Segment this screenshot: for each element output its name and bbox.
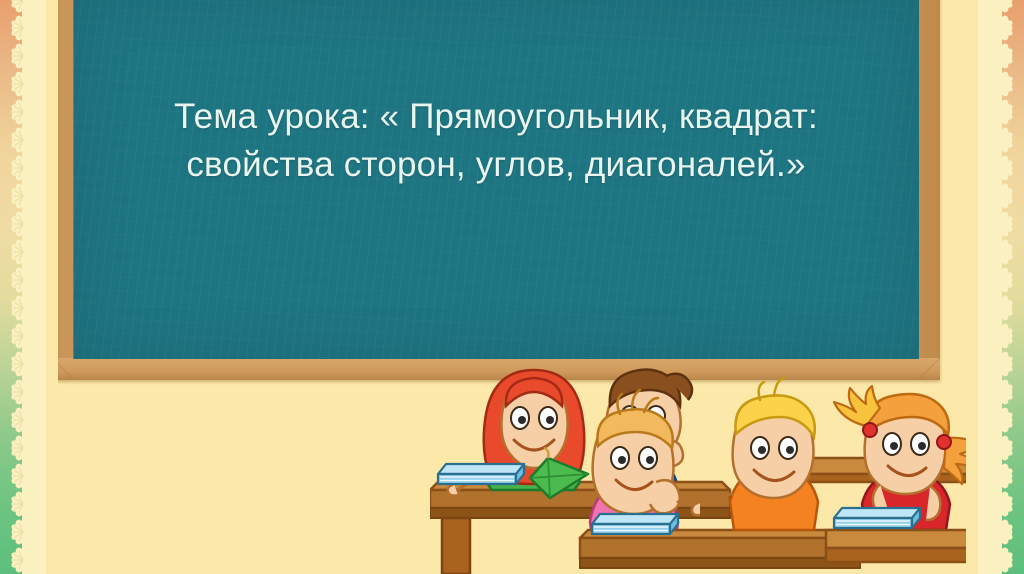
book — [592, 514, 678, 534]
lace-pattern-right — [978, 0, 1018, 574]
lace-border-right — [966, 0, 1024, 574]
book — [438, 464, 524, 484]
book — [834, 508, 920, 528]
lace-border-left — [0, 0, 58, 574]
chalkboard-surface: Тема урока: « Прямоугольник, квадрат: св… — [73, 0, 919, 359]
lace-pattern-left — [6, 0, 46, 574]
chalkboard-frame: Тема урока: « Прямоугольник, квадрат: св… — [52, 0, 940, 380]
classroom-children-illustration — [430, 362, 990, 574]
desk-front-right — [580, 514, 860, 568]
slide-root: Тема урока: « Прямоугольник, квадрат: св… — [0, 0, 1024, 574]
child-girl-red-hair — [438, 370, 588, 498]
page-title: Тема урока: « Прямоугольник, квадрат: св… — [133, 93, 859, 188]
